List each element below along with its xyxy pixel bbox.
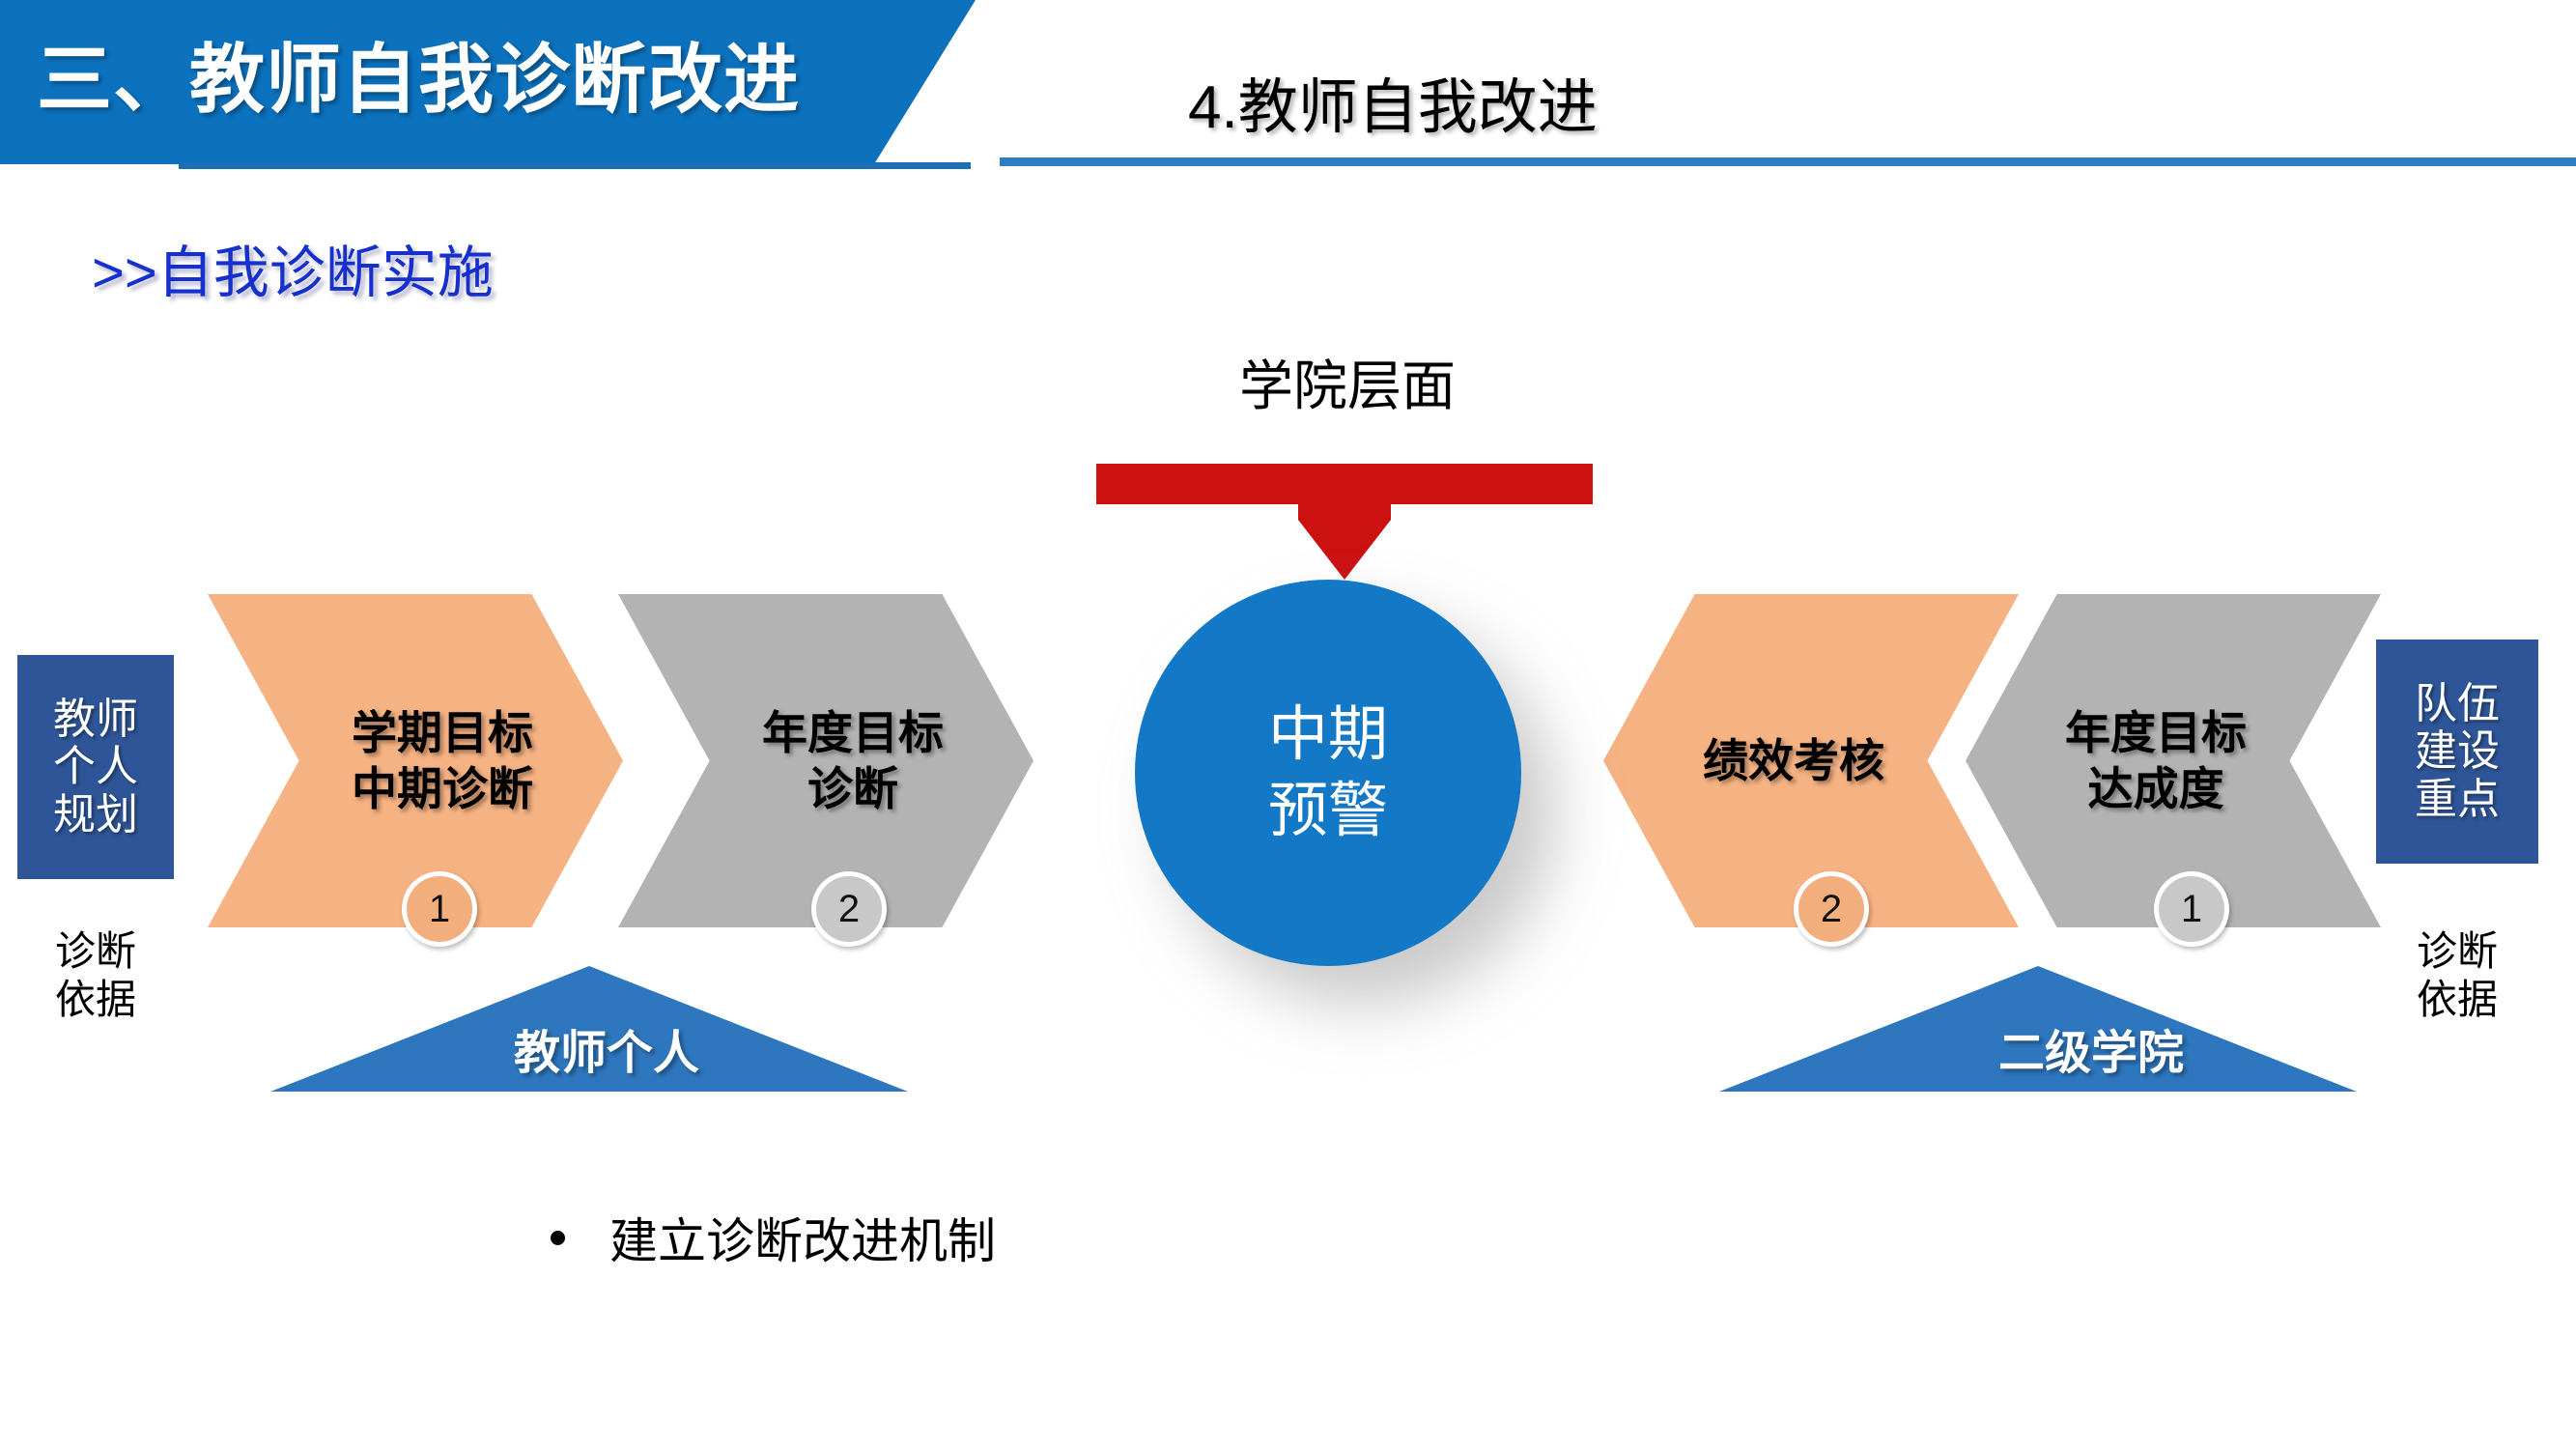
side-box-teacher-plan: 教师 个人 规划	[17, 655, 174, 879]
band-triangle-teacher: 教师个人	[270, 966, 908, 1092]
step-badge-1: 1	[402, 871, 477, 947]
chevron-label: 绩效考核	[1703, 733, 1884, 788]
chevron-label: 学期目标 中期诊断	[352, 705, 533, 816]
chevron-label: 年度目标 达成度	[2065, 705, 2247, 816]
band-label: 二级学院	[1998, 1014, 2184, 1092]
college-level-label: 学院层面	[1174, 343, 1521, 421]
side-box-team-focus: 队伍 建设 重点	[2376, 640, 2538, 864]
center-circle-label: 中期 预警	[1268, 697, 1388, 850]
down-arrow-icon	[1096, 464, 1593, 580]
center-circle-midterm-warning[interactable]: 中期 预警	[1135, 580, 1521, 966]
header-underline-left	[179, 162, 971, 169]
step-badge-3: 2	[1794, 871, 1869, 947]
side-box-label: 教师 个人 规划	[53, 696, 138, 839]
bullet-text: 建立诊断改进机制	[609, 1203, 996, 1272]
band-label: 教师个人	[514, 1014, 699, 1092]
subtitle: >>自我诊断实施	[92, 227, 494, 308]
step-chevron-annual-goal[interactable]: 年度目标 诊断	[618, 594, 1033, 927]
side-caption-left: 诊断 依据	[17, 927, 174, 1023]
band-triangle-college: 二级学院	[1719, 966, 2357, 1092]
side-box-label: 队伍 建设 重点	[2415, 680, 2500, 823]
step-chevron-semester-goal[interactable]: 学期目标 中期诊断	[208, 594, 623, 927]
side-caption-right: 诊断 依据	[2376, 927, 2538, 1023]
step-badge-2: 2	[811, 871, 887, 947]
header-underline-right	[1000, 157, 2576, 166]
bullet-row: 建立诊断改进机制	[551, 1203, 996, 1272]
page-title: 4.教师自我改进	[1188, 58, 1598, 145]
step-badge-4: 1	[2154, 871, 2229, 947]
bullet-dot-icon	[551, 1231, 565, 1245]
section-title: 三、教师自我诊断改进	[37, 19, 906, 128]
chevron-label: 年度目标 诊断	[762, 705, 944, 816]
